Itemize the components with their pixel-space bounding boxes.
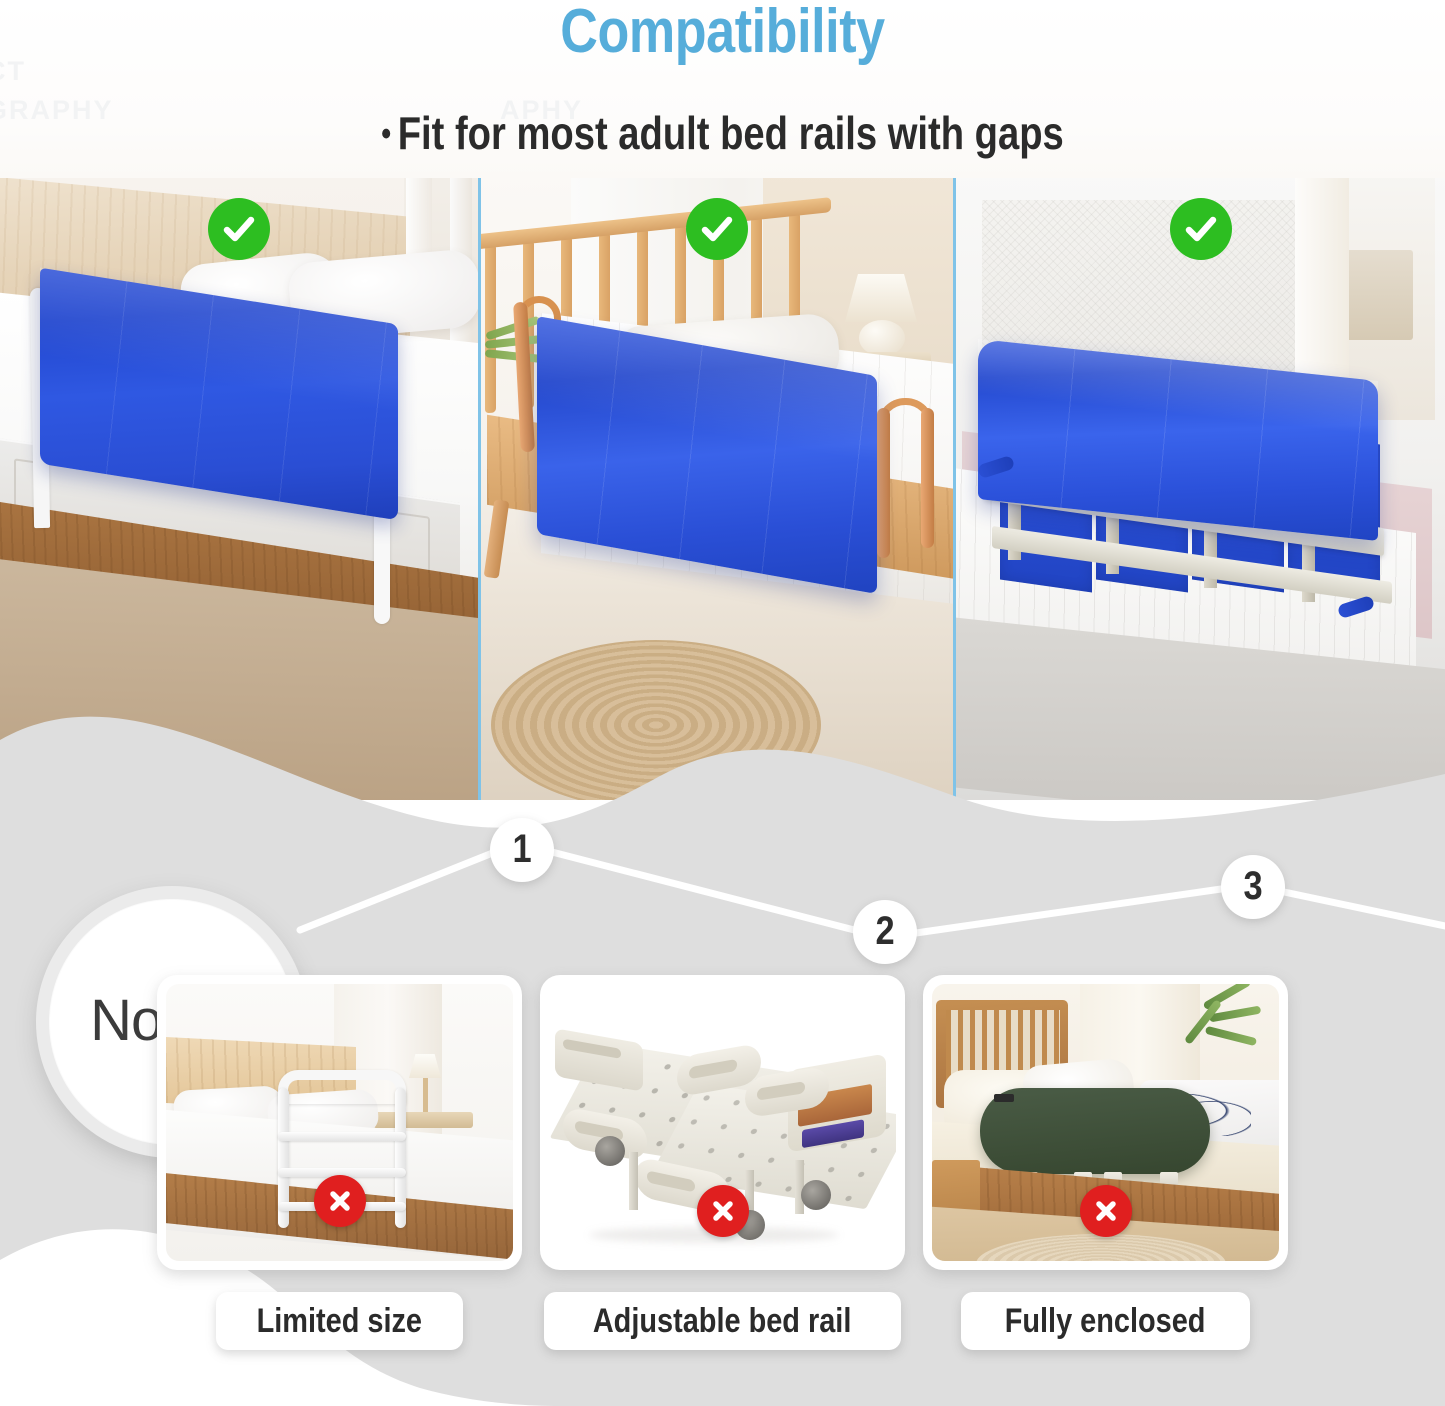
panel2-copper-rail-right-a (877, 408, 890, 558)
green-check-icon (1170, 198, 1232, 260)
watermark-line-2: GRAPHY (0, 95, 114, 125)
green-check-icon (208, 198, 270, 260)
header-section: CTGRAPHY APHY Compatibility •Fit for mos… (0, 0, 1445, 178)
panel1-rail-frame (32, 288, 402, 558)
card-3-label-row: Fully enclosed (923, 1270, 1288, 1350)
panel2-lamp-base (859, 320, 905, 356)
card-3-label: Fully enclosed (961, 1292, 1249, 1350)
card1-lamp-stem (423, 1078, 428, 1112)
step-number-3-label: 3 (1243, 864, 1262, 909)
card-3-photo-inner (932, 984, 1279, 1261)
infographic-canvas: CTGRAPHY APHY Compatibility •Fit for mos… (0, 0, 1445, 1406)
card2-wheel-1 (595, 1136, 625, 1166)
card-2-photo (540, 975, 905, 1270)
red-x-icon (1080, 1185, 1132, 1237)
card-2-label-text: Adjustable bed rail (593, 1302, 852, 1341)
page-title: Compatibility (116, 0, 1330, 67)
card-2-photo-inner (549, 984, 896, 1261)
not-fit-card-adjustable-bed-rail: Adjustable bed rail (540, 975, 905, 1375)
step-number-3: 3 (1221, 855, 1285, 919)
panel2-copper-rail-right-b (921, 408, 934, 548)
card-1-label: Limited size (216, 1292, 463, 1350)
page-subtitle: •Fit for most adult bed rails with gaps (123, 106, 1322, 160)
step-number-2-label: 2 (875, 909, 894, 954)
card-3-label-text: Fully enclosed (1005, 1302, 1206, 1341)
green-check-icon (686, 198, 748, 260)
card3-green-enclosed-rail (980, 1088, 1210, 1174)
card-2-label-row: Adjustable bed rail (540, 1270, 905, 1350)
card2-leg-1 (629, 1152, 638, 1210)
not-fit-card-limited-size: Limited size (157, 975, 522, 1375)
bullet-icon: • (381, 115, 391, 153)
step-number-1-label: 1 (512, 827, 531, 872)
card-1-photo (157, 975, 522, 1270)
card-1-label-text: Limited size (257, 1302, 422, 1341)
panel1-blue-rail-cover (40, 268, 398, 521)
step-number-2: 2 (853, 900, 917, 964)
card-1-photo-inner (166, 984, 513, 1261)
watermark-line-1: CT (0, 56, 26, 86)
watermark-left: CTGRAPHY (0, 52, 114, 130)
card2-wheel-3 (801, 1180, 831, 1210)
card1-rail-cap (278, 1070, 406, 1104)
card-3-photo (923, 975, 1288, 1270)
card3-plant (1165, 984, 1273, 1084)
not-fit-card-fully-enclosed: Fully enclosed (923, 975, 1288, 1375)
card-1-label-row: Limited size (157, 1270, 522, 1350)
card-2-label: Adjustable bed rail (544, 1292, 900, 1350)
card1-rail-bar-1 (278, 1132, 406, 1141)
red-x-icon (314, 1175, 366, 1227)
subtitle-text: Fit for most adult bed rails with gaps (398, 107, 1064, 159)
red-x-icon (697, 1185, 749, 1237)
not-fit-card-list: Limited size (0, 975, 1445, 1375)
step-number-1: 1 (490, 818, 554, 882)
